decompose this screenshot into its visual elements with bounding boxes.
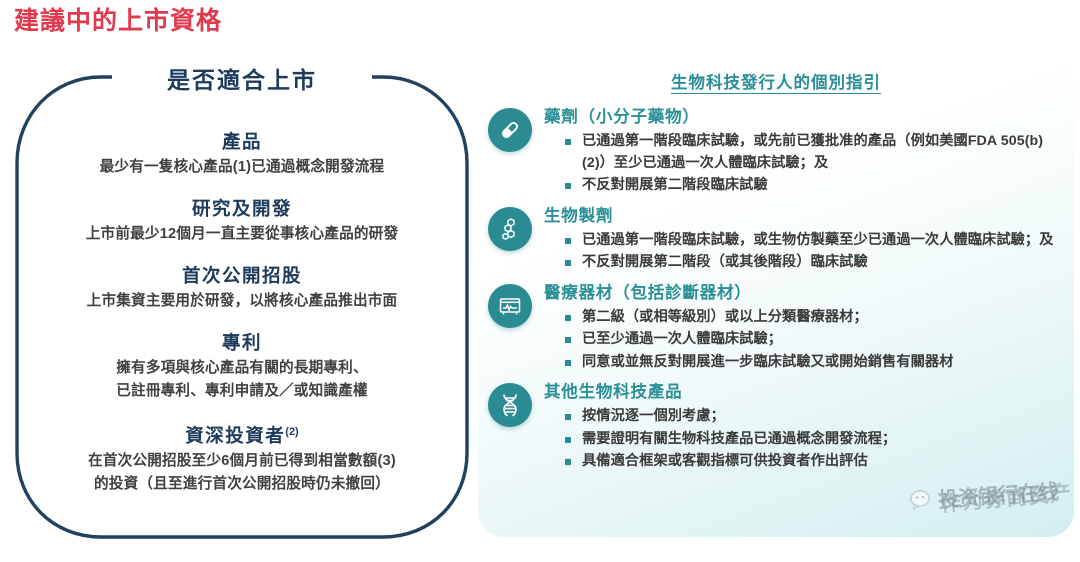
criteria-title: 首次公開招股 xyxy=(27,263,457,288)
criteria-line: 最少有一隻核心產品(1)已通過概念開發流程 xyxy=(27,156,457,179)
criteria-line: 擁有多項與核心產品有關的長期專利、 xyxy=(27,357,457,380)
list-item: 按情況逐一個別考慮； xyxy=(544,406,1066,428)
criteria-title: 研究及開發 xyxy=(27,196,457,221)
medical-device-icon xyxy=(488,284,532,328)
icon-wrap xyxy=(488,108,532,152)
right-panel-heading: 生物科技發行人的個別指引 xyxy=(478,69,1074,93)
criteria-block: 首次公開招股 上市集資主要用於研發，以將核心產品推出市面 xyxy=(27,263,457,313)
bullet-square-icon xyxy=(565,414,571,420)
list-item-text: 不反對開展第二階段臨床試驗 xyxy=(582,175,1066,197)
list-item: 具備適合框架或客觀指標可供投資者作出評估 xyxy=(544,451,1066,473)
watermark-overlay-text: 作为券商资产 xyxy=(939,477,1073,518)
guidance-section-body: 醫療器材（包括診斷器材） 第二級（或相等級別）或以上分類醫療器材； 已至少通過一… xyxy=(544,281,1066,375)
guidance-section-title: 醫療器材（包括診斷器材） xyxy=(544,281,1066,306)
list-item: 不反對開展第二階段臨床試驗 xyxy=(544,175,1066,197)
criteria-title-footnote: (2) xyxy=(285,426,298,438)
criteria-block: 產品 最少有一隻核心產品(1)已通過概念開發流程 xyxy=(27,129,457,179)
guidance-section: 醫療器材（包括診斷器材） 第二級（或相等級別）或以上分類醫療器材； 已至少通過一… xyxy=(488,281,1066,375)
guidance-section: 生物製劑 已通過第一階段臨床試驗，或生物仿製藥至少已通過一次人體臨床試驗；及 不… xyxy=(488,204,1066,275)
icon-wrap xyxy=(488,284,532,328)
dna-icon xyxy=(488,383,532,427)
bullet-square-icon xyxy=(565,238,571,244)
list-item-text: 同意或並無反對開展進一步臨床試驗又或開始銷售有關器材 xyxy=(582,352,1066,374)
icon-wrap xyxy=(488,383,532,427)
criteria-title: 專利 xyxy=(27,330,457,355)
guidance-section-title: 生物製劑 xyxy=(544,204,1066,229)
list-item: 已通過第一階段臨床試驗，或先前已獲批准的產品（例如美國FDA 505(b)(2)… xyxy=(544,131,1066,174)
list-item-text: 具備適合框架或客觀指標可供投資者作出評估 xyxy=(582,451,1066,473)
list-item: 已至少通過一次人體臨床試驗； xyxy=(544,329,1066,351)
list-item: 需要證明有關生物科技產品已通過概念開發流程； xyxy=(544,429,1066,451)
list-item: 第二級（或相等級別）或以上分類醫療器材； xyxy=(544,307,1066,329)
left-panel: 是否適合上市 產品 最少有一隻核心產品(1)已通過概念開發流程 研究及開發 上市… xyxy=(13,73,471,541)
list-item-text: 按情況逐一個別考慮； xyxy=(582,406,1066,428)
criteria-line: 已註冊專利、專利申請及／或知識產權 xyxy=(27,380,457,403)
criteria-block: 專利 擁有多項與核心產品有關的長期專利、 已註冊專利、專利申請及／或知識產權 xyxy=(27,330,457,403)
criteria-title: 產品 xyxy=(27,129,457,154)
wechat-logo-icon xyxy=(909,488,936,512)
bullet-list: 按情況逐一個別考慮； 需要證明有關生物科技產品已通過概念開發流程； 具備適合框架… xyxy=(544,406,1066,473)
list-item-text: 不反對開展第二階段（或其後階段）臨床試驗 xyxy=(582,252,1066,274)
pill-icon xyxy=(488,108,532,152)
guidance-section: 藥劑（小分子藥物） 已通過第一階段臨床試驗，或先前已獲批准的產品（例如美國FDA… xyxy=(488,105,1066,198)
list-item: 不反對開展第二階段（或其後階段）臨床試驗 xyxy=(544,252,1066,274)
bullet-square-icon xyxy=(565,337,571,343)
list-item-text: 已通過第一階段臨床試驗，或生物仿製藥至少已通過一次人體臨床試驗；及 xyxy=(582,230,1066,252)
guidance-section-title: 其他生物科技產品 xyxy=(544,380,1066,405)
criteria-line: 在首次公開招股至少6個月前已得到相當數額(3) xyxy=(27,450,457,473)
icon-wrap xyxy=(488,207,532,251)
left-panel-heading: 是否適合上市 xyxy=(112,59,372,99)
bullet-square-icon xyxy=(565,437,571,443)
bullet-square-icon xyxy=(565,315,571,321)
molecule-icon xyxy=(488,207,532,251)
guidance-section-title: 藥劑（小分子藥物） xyxy=(544,105,1066,130)
list-item-text: 已通過第一階段臨床試驗，或先前已獲批准的產品（例如美國FDA 505(b)(2)… xyxy=(582,131,1066,174)
list-item-text: 已至少通過一次人體臨床試驗； xyxy=(582,329,1066,351)
right-panel: 生物科技發行人的個別指引 藥劑（小分子藥物） xyxy=(478,57,1074,537)
page-title: 建議中的上市資格 xyxy=(14,4,222,38)
criteria-block: 資深投資者(2) 在首次公開招股至少6個月前已得到相當數額(3) 的投資（且至進… xyxy=(27,420,457,496)
criteria-title: 資深投資者(2) xyxy=(27,420,457,448)
guidance-section-body: 藥劑（小分子藥物） 已通過第一階段臨床試驗，或先前已獲批准的產品（例如美國FDA… xyxy=(544,105,1066,198)
guidance-section: 其他生物科技產品 按情況逐一個別考慮； 需要證明有關生物科技產品已通過概念開發流… xyxy=(488,380,1066,474)
list-item: 已通過第一階段臨床試驗，或生物仿製藥至少已通過一次人體臨床試驗；及 xyxy=(544,230,1066,252)
guidance-section-body: 其他生物科技產品 按情況逐一個別考慮； 需要證明有關生物科技產品已通過概念開發流… xyxy=(544,380,1066,474)
criteria-block: 研究及開發 上市前最少12個月一直主要從事核心產品的研發 xyxy=(27,196,457,246)
bullet-square-icon xyxy=(565,183,571,189)
bullet-list: 第二級（或相等級別）或以上分類醫療器材； 已至少通過一次人體臨床試驗； 同意或並… xyxy=(544,307,1066,374)
list-item-text: 第二級（或相等級別）或以上分類醫療器材； xyxy=(582,307,1066,329)
guidance-section-body: 生物製劑 已通過第一階段臨床試驗，或生物仿製藥至少已通過一次人體臨床試驗；及 不… xyxy=(544,204,1066,275)
list-item-text: 需要證明有關生物科技產品已通過概念開發流程； xyxy=(582,429,1066,451)
bullet-square-icon xyxy=(565,360,571,366)
bullet-square-icon xyxy=(565,260,571,266)
criteria-line: 的投資（且至進行首次公開招股時仍未撤回） xyxy=(27,473,457,496)
left-panel-body: 產品 最少有一隻核心產品(1)已通過概念開發流程 研究及開發 上市前最少12個月… xyxy=(13,129,471,496)
bullet-square-icon xyxy=(565,139,571,145)
criteria-line: 上市前最少12個月一直主要從事核心產品的研發 xyxy=(27,223,457,246)
bullet-list: 已通過第一階段臨床試驗，或生物仿製藥至少已通過一次人體臨床試驗；及 不反對開展第… xyxy=(544,230,1066,274)
list-item: 同意或並無反對開展進一步臨床試驗又或開始銷售有關器材 xyxy=(544,352,1066,374)
criteria-line: 上市集資主要用於研發，以將核心產品推出市面 xyxy=(27,290,457,313)
guidance-sections: 藥劑（小分子藥物） 已通過第一階段臨床試驗，或先前已獲批准的產品（例如美國FDA… xyxy=(478,105,1074,480)
bullet-list: 已通過第一階段臨床試驗，或先前已獲批准的產品（例如美國FDA 505(b)(2)… xyxy=(544,131,1066,197)
bullet-square-icon xyxy=(565,459,571,465)
